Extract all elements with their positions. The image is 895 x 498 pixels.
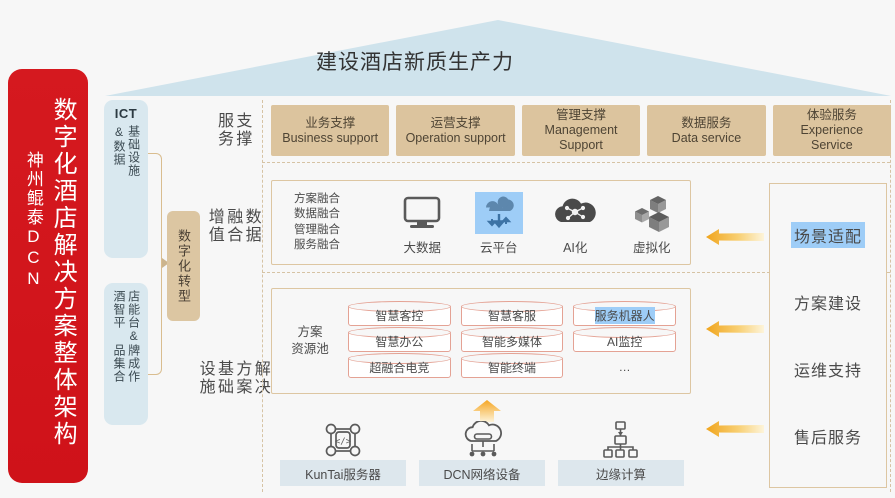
resource-pool-item: …: [573, 357, 676, 378]
row-label-fusion-line3: 增值: [204, 208, 222, 244]
resource-pool-item[interactable]: 智慧客控: [348, 305, 451, 326]
row-label-infra-line1: 解决: [250, 360, 268, 396]
title-banner: 数字化酒店解决方案整体架构 神州鲲泰DCN: [8, 69, 88, 483]
fusion-text-line-2: 数据融合: [294, 207, 384, 222]
data-fusion-panel: 方案融合数据融合管理融合服务融合 大数据云平台AI化虚拟化: [271, 180, 691, 265]
pillar-hotel-col-right: 店能台&牌成作: [126, 290, 141, 383]
infrastructure-item-caption: DCN网络设备: [419, 460, 545, 486]
resource-pool-item-label: 服务机器人: [595, 307, 655, 324]
resource-pool-panel: 方案 资源池 智慧客控智慧客服服务机器人智慧办公智能多媒体AI监控超融合电竞智能…: [271, 288, 691, 394]
row-label-infrastructure: 解决 方案 基础 设施: [200, 330, 264, 426]
fusion-item-大数据[interactable]: 大数据: [391, 192, 453, 256]
support-service-en2: Support: [559, 138, 603, 153]
digital-transformation-box[interactable]: 数字化转型: [167, 211, 200, 321]
support-service-en: Operation support: [406, 131, 506, 146]
support-service-en2: Service: [811, 138, 853, 153]
resource-pool-label-line2: 资源池: [272, 341, 348, 358]
fusion-item-AI化[interactable]: AI化: [544, 192, 606, 256]
architecture-diagram: 数字化酒店解决方案整体架构 神州鲲泰DCN 建设酒店新质生产力 ICT 基础设施…: [0, 0, 895, 498]
support-service-en: Management: [545, 123, 618, 138]
resource-pool-item-label: 智慧客控: [375, 307, 423, 324]
support-service-en: Business support: [282, 131, 378, 146]
ai-cloud-icon: [552, 192, 598, 234]
support-service-box-1[interactable]: 业务支撑Business support: [271, 105, 389, 156]
digital-transformation-label: 数字化转型: [174, 229, 193, 304]
fusion-item-caption: AI化: [563, 237, 587, 256]
infrastructure-item-DCN网络设备[interactable]: DCN网络设备: [419, 420, 545, 490]
support-service-cn: 业务支撑: [305, 116, 355, 131]
support-service-cn: 运营支撑: [431, 116, 481, 131]
support-service-box-4[interactable]: 数据服务Data service: [647, 105, 765, 156]
support-service-box-3[interactable]: 管理支撑ManagementSupport: [522, 105, 640, 156]
row-label-infra-line2: 方案: [232, 360, 250, 396]
support-service-box-2[interactable]: 运营支撑Operation support: [396, 105, 514, 156]
monitor-icon: [402, 192, 442, 234]
resource-pool-item[interactable]: 服务机器人: [573, 305, 676, 326]
resource-pool-item[interactable]: 超融合电竞: [348, 357, 451, 378]
fusion-item-caption: 云平台: [480, 237, 518, 256]
fusion-item-虚拟化[interactable]: 虚拟化: [621, 192, 683, 256]
row-label-fusion: 数据 融合 增值: [200, 190, 264, 262]
fusion-text-line-1: 方案融合: [294, 192, 384, 207]
right-service-运维支持[interactable]: 运维支持: [791, 356, 865, 382]
cloud-transfer-icon: [475, 192, 523, 234]
support-service-cn: 体验服务: [807, 108, 857, 123]
cubes-icon: [631, 192, 673, 234]
infrastructure-row: </>KunTai服务器DCN网络设备边缘计算: [280, 420, 684, 490]
fusion-item-caption: 大数据: [403, 237, 441, 256]
support-service-box-5[interactable]: 体验服务ExperienceService: [773, 105, 891, 156]
pillar-bracket: [148, 153, 162, 375]
right-service-场景适配[interactable]: 场景适配: [791, 222, 865, 248]
resource-pool-grid: 智慧客控智慧客服服务机器人智慧办公智能多媒体AI监控超融合电竞智能终端…: [348, 298, 690, 385]
fusion-item-caption: 虚拟化: [633, 237, 671, 256]
right-services-panel: 场景适配方案建设运维支持售后服务: [769, 183, 887, 488]
fusion-item-云平台[interactable]: 云平台: [468, 192, 530, 256]
infrastructure-item-caption: 边缘计算: [558, 460, 684, 486]
resource-pool-item-label: 智慧客服: [488, 307, 536, 324]
pillar-ict-head: ICT: [104, 106, 148, 121]
resource-pool-item[interactable]: AI监控: [573, 331, 676, 352]
support-service-en: Data service: [672, 131, 741, 146]
row-label-fusion-line1: 数据: [241, 208, 259, 244]
resource-pool-item-label: 智慧办公: [375, 333, 423, 350]
divider-vertical-left: [262, 100, 263, 492]
pillar-hotel-col-left: 酒智平 品集合: [111, 290, 126, 383]
divider-vertical-right: [890, 100, 891, 492]
left-arrow-icon-1: [706, 228, 764, 246]
fusion-text-block: 方案融合数据融合管理融合服务融合: [272, 192, 384, 254]
support-service-cn: 管理支撑: [556, 108, 606, 123]
pillar-ict[interactable]: ICT 基础设施 &数据: [104, 100, 148, 258]
resource-pool-label: 方案 资源池: [272, 324, 348, 358]
row-label-support-line2: 服务: [214, 112, 232, 148]
fusion-text-line-4: 服务融合: [294, 238, 384, 253]
resource-pool-item-label: 超融合电竞: [369, 359, 429, 376]
row-label-support: 支撑 服务: [200, 104, 264, 156]
pillar-ict-col-right: 基础设施: [126, 125, 141, 177]
infrastructure-item-边缘计算[interactable]: 边缘计算: [558, 420, 684, 490]
banner-main-title: 数字化酒店解决方案整体架构: [50, 97, 75, 448]
resource-pool-item[interactable]: 智能终端: [461, 357, 564, 378]
resource-pool-item-label: AI监控: [607, 333, 642, 350]
pillar-hotel[interactable]: 店能台&牌成作 酒智平 品集合: [104, 283, 148, 425]
resource-pool-item[interactable]: 智慧客服: [461, 305, 564, 326]
svg-text:</>: </>: [335, 437, 352, 447]
resource-pool-item[interactable]: 智慧办公: [348, 331, 451, 352]
left-arrow-icon-2: [706, 320, 764, 338]
infrastructure-item-caption: KunTai服务器: [280, 460, 406, 486]
resource-pool-label-line1: 方案: [272, 324, 348, 341]
fusion-items-row: 大数据云平台AI化虚拟化: [384, 181, 690, 264]
server-nodes-icon: </>: [321, 420, 365, 460]
row-label-infra-line4: 设施: [195, 360, 213, 396]
right-service-售后服务[interactable]: 售后服务: [791, 423, 865, 449]
resource-pool-item-label: …: [619, 360, 631, 374]
up-arrow-icon: [470, 400, 504, 422]
resource-pool-item-label: 智能多媒体: [482, 333, 542, 350]
resource-pool-item-label: 智能终端: [488, 359, 536, 376]
edge-tree-icon: [602, 420, 640, 460]
row-label-fusion-line2: 融合: [223, 208, 241, 244]
banner-sub-title: 神州鲲泰DCN: [21, 151, 46, 290]
support-service-en: Experience: [801, 123, 864, 138]
left-arrow-icon-3: [706, 420, 764, 438]
support-services-row: 业务支撑Business support运营支撑Operation suppor…: [271, 105, 891, 156]
infrastructure-item-KunTai服务器[interactable]: </>KunTai服务器: [280, 420, 406, 490]
row-label-support-line1: 支撑: [232, 112, 250, 148]
pillar-ict-col-left: &数据: [111, 125, 126, 166]
roof-title: 建设酒店新质生产力: [0, 46, 786, 76]
row-label-infra-line3: 基础: [214, 360, 232, 396]
fusion-text-line-3: 管理融合: [294, 223, 384, 238]
right-service-方案建设[interactable]: 方案建设: [791, 289, 865, 315]
cloud-network-icon: [459, 420, 505, 460]
divider-support-fusion: [262, 162, 890, 163]
support-service-cn: 数据服务: [681, 116, 731, 131]
resource-pool-item[interactable]: 智能多媒体: [461, 331, 564, 352]
